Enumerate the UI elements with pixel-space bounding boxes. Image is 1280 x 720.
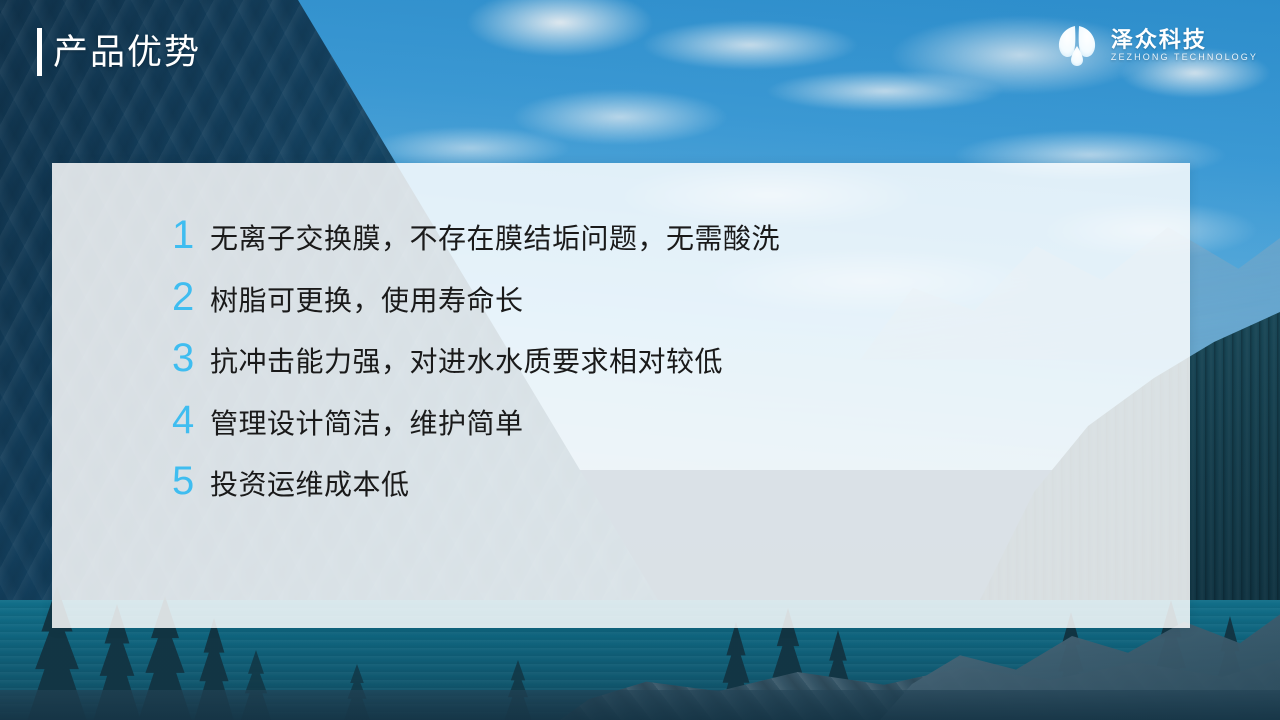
list-item: 5投资运维成本低 xyxy=(172,461,1150,502)
list-item: 3抗冲击能力强，对进水水质要求相对较低 xyxy=(172,338,1150,379)
logo-company-name-cn: 泽众科技 xyxy=(1111,28,1258,51)
list-item: 1无离子交换膜，不存在膜结垢问题，无需酸洗 xyxy=(172,215,1150,256)
water-drop-leaf-logo-icon xyxy=(1053,22,1101,68)
rocky-shore xyxy=(0,690,1280,720)
advantage-text: 管理设计简洁，维护简单 xyxy=(210,407,524,441)
advantage-number: 1 xyxy=(172,215,198,255)
advantage-number: 2 xyxy=(172,277,198,317)
cloud-shape xyxy=(720,62,1050,120)
advantage-text: 抗冲击能力强，对进水水质要求相对较低 xyxy=(210,345,723,379)
slide-title: 产品优势 xyxy=(37,28,201,76)
title-accent-bar xyxy=(37,28,42,76)
page-title: 产品优势 xyxy=(53,35,201,70)
logo-company-name-en: ZEZHONG TECHNOLOGY xyxy=(1111,53,1258,62)
advantage-number: 3 xyxy=(172,338,198,378)
advantage-number: 4 xyxy=(172,400,198,440)
advantage-text: 树脂可更换，使用寿命长 xyxy=(210,284,524,318)
logo-text-block: 泽众科技 ZEZHONG TECHNOLOGY xyxy=(1111,28,1258,62)
brand-logo: 泽众科技 ZEZHONG TECHNOLOGY xyxy=(1053,22,1258,68)
advantage-text: 无离子交换膜，不存在膜结垢问题，无需酸洗 xyxy=(210,222,780,256)
advantage-number: 5 xyxy=(172,461,198,501)
advantage-text: 投资运维成本低 xyxy=(210,468,410,502)
slide-canvas: 产品优势 泽众科技 ZEZHONG TECHNOLOGY 1无离子交换膜，不存在… xyxy=(0,0,1280,720)
content-panel: 1无离子交换膜，不存在膜结垢问题，无需酸洗2树脂可更换，使用寿命长3抗冲击能力强… xyxy=(52,163,1190,628)
list-item: 4管理设计简洁，维护简单 xyxy=(172,400,1150,441)
list-item: 2树脂可更换，使用寿命长 xyxy=(172,277,1150,318)
advantage-list: 1无离子交换膜，不存在膜结垢问题，无需酸洗2树脂可更换，使用寿命长3抗冲击能力强… xyxy=(172,215,1150,502)
